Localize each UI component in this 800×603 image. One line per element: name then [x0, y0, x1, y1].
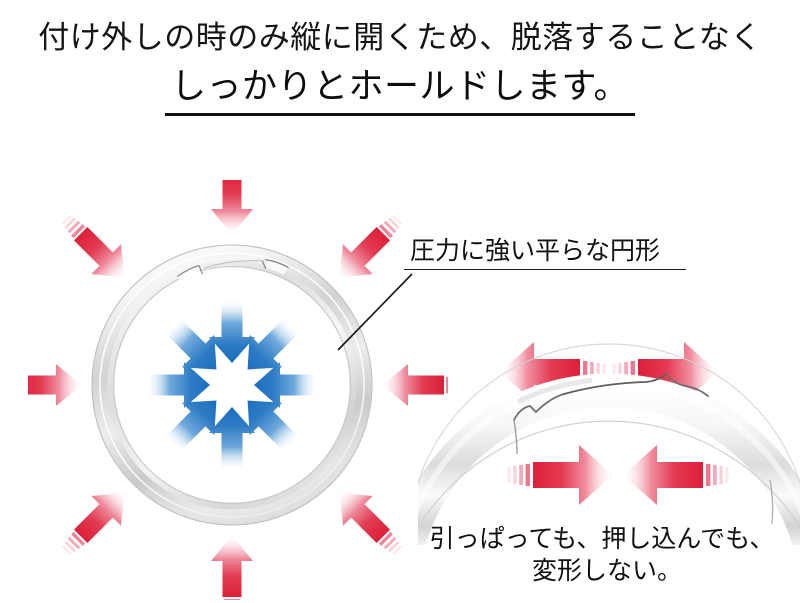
blue-arrow-left: [148, 362, 210, 408]
blue-arrow-right: [254, 362, 316, 408]
headline-block: 付け外しの時のみ縦に開くため、脱落することなく しっかりとホールドします。: [0, 18, 800, 116]
push-together-arrows: [508, 445, 729, 505]
push-arrow-right: [508, 445, 613, 505]
closeup-svg: [418, 330, 800, 545]
red-arrow-bottom-left: [51, 204, 139, 292]
blue-arrow-up: [209, 301, 255, 363]
push-arrow-left: [623, 445, 728, 505]
caption-line-2: 変形しない。: [404, 556, 800, 588]
headline-line-1: 付け外しの時のみ縦に開くため、脱落することなく: [0, 18, 800, 58]
closeup-caption: 引っぱっても、押し込んでも、 変形しない。: [404, 524, 800, 588]
inward-pressure-arrows: [28, 180, 448, 600]
red-arrow-left: [28, 364, 82, 406]
red-arrow-top-left: [51, 478, 139, 566]
callout-pressure-resistant: 圧力に強い平らな円形: [404, 238, 694, 270]
red-arrow-bottom-right: [325, 204, 413, 292]
ring-arc-closeup: [418, 344, 800, 545]
infographic-canvas: 付け外しの時のみ縦に開くため、脱落することなく しっかりとホールドします。: [0, 0, 800, 603]
red-arrow-top-right: [325, 478, 413, 566]
callout-underline: [404, 269, 686, 270]
caption-line-1: 引っぱっても、押し込んでも、: [404, 524, 800, 556]
headline-line-2-wrapper: しっかりとホールドします。: [0, 65, 800, 116]
red-arrow-top: [211, 535, 253, 600]
ring-diagram-svg: [28, 180, 448, 600]
blue-arrow-down: [209, 407, 255, 469]
headline-line-2: しっかりとホールドします。: [165, 65, 635, 116]
ring-arc-band: [418, 391, 800, 545]
outward-force-arrows: [148, 301, 316, 469]
red-arrow-bottom: [211, 180, 253, 235]
ring-pressure-diagram: [28, 180, 448, 600]
callout-label: 圧力に強い平らな円形: [404, 238, 694, 267]
ring-joint-closeup-diagram: [418, 330, 800, 545]
split-ring-body: [92, 245, 372, 528]
